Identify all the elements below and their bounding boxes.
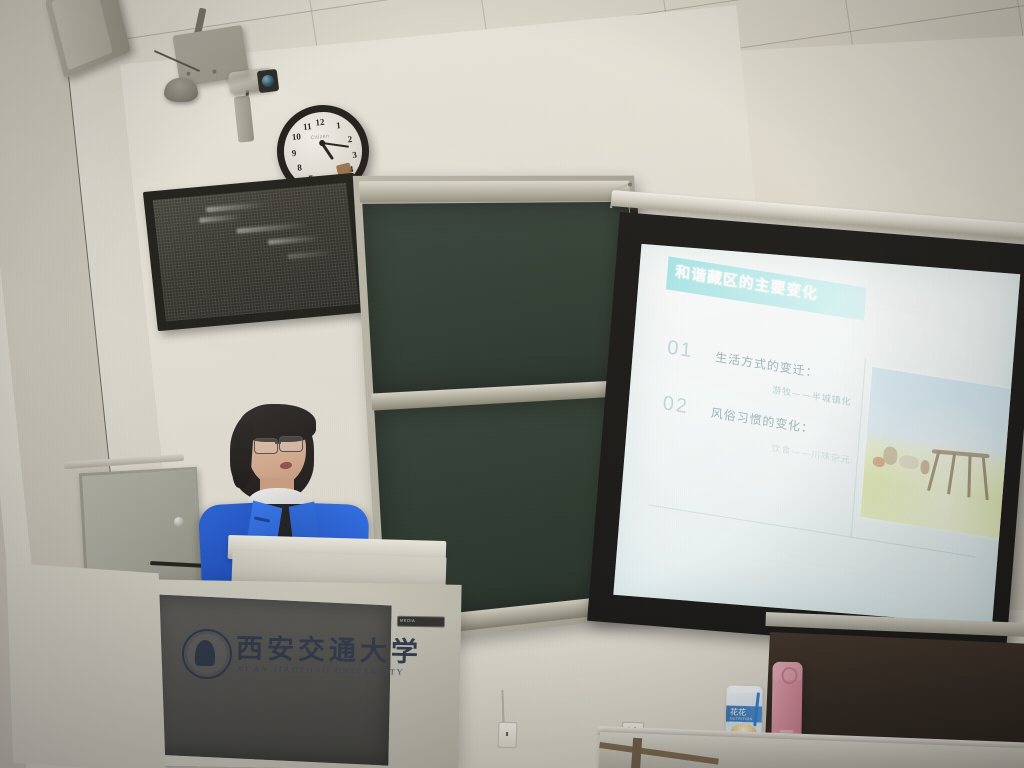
glasses-bridge [275, 442, 281, 444]
tent-frame-icon [923, 446, 994, 503]
chalkboard-panel-upper [362, 202, 638, 395]
clock-numeral: 3 [348, 149, 361, 160]
chalkboard-top-rail [359, 181, 631, 203]
podium-front-plaque [150, 594, 391, 765]
slide-item-sub: 游牧——半城镇化 [772, 380, 853, 410]
presentation-slide: 和谐藏区的主要变化 01 生活方式的变迁： 游牧——半城镇化 02 风俗习惯的变… [613, 244, 1020, 625]
wall-switch[interactable] [498, 722, 518, 749]
pouch-seal [730, 686, 760, 694]
mesh-texture [153, 183, 359, 322]
slide-item-subtext: 游牧——半城镇化 [772, 386, 852, 409]
slide-item-sub: 饮食——川味杂元 [771, 438, 852, 468]
clock-numeral: 2 [343, 134, 356, 145]
screen-surface: 和谐藏区的主要变化 01 生活方式的变迁： 游牧——半城镇化 02 风俗习惯的变… [613, 244, 1020, 625]
slide-item-number: 01 [666, 336, 694, 362]
mesh-display-panel [143, 173, 369, 331]
glasses-icon [279, 436, 303, 452]
cctv-lens-icon [257, 69, 280, 93]
slide-photo [860, 367, 1019, 540]
lecture-hall-photo: Citizen 12 1 2 3 4 5 6 7 8 9 10 11 [0, 0, 1024, 768]
clock-numeral: 1 [332, 120, 345, 131]
glasses-icon [254, 438, 278, 454]
slide-item-text: 生活方式的变迁： [715, 350, 819, 380]
slide-item-number: 02 [662, 392, 690, 418]
university-name-cn: 西安交通大学 [236, 626, 397, 668]
clock-numeral: 8 [293, 162, 306, 173]
clock-numeral: 11 [301, 121, 314, 132]
cabinet-knob-icon[interactable] [174, 517, 185, 528]
slide-item-subtext: 饮食——川味杂元 [771, 444, 851, 467]
bottle-handle-ring-icon [781, 667, 797, 684]
podium-media-panel[interactable]: MEDIA [397, 616, 445, 628]
clock-numeral: 9 [288, 147, 301, 158]
dome-camera-icon [164, 78, 198, 102]
slide-item-text: 风俗习惯的变化： [710, 406, 814, 436]
podium-media-label: MEDIA [398, 617, 444, 625]
podium-side-panel [6, 563, 165, 768]
slide-item: 01 生活方式的变迁： [666, 336, 819, 383]
projection-screen: 和谐藏区的主要变化 01 生活方式的变迁： 游牧——半城镇化 02 风俗习惯的变… [587, 212, 1024, 654]
clock-numeral: 10 [290, 131, 303, 142]
clock-numeral: 12 [313, 117, 326, 128]
